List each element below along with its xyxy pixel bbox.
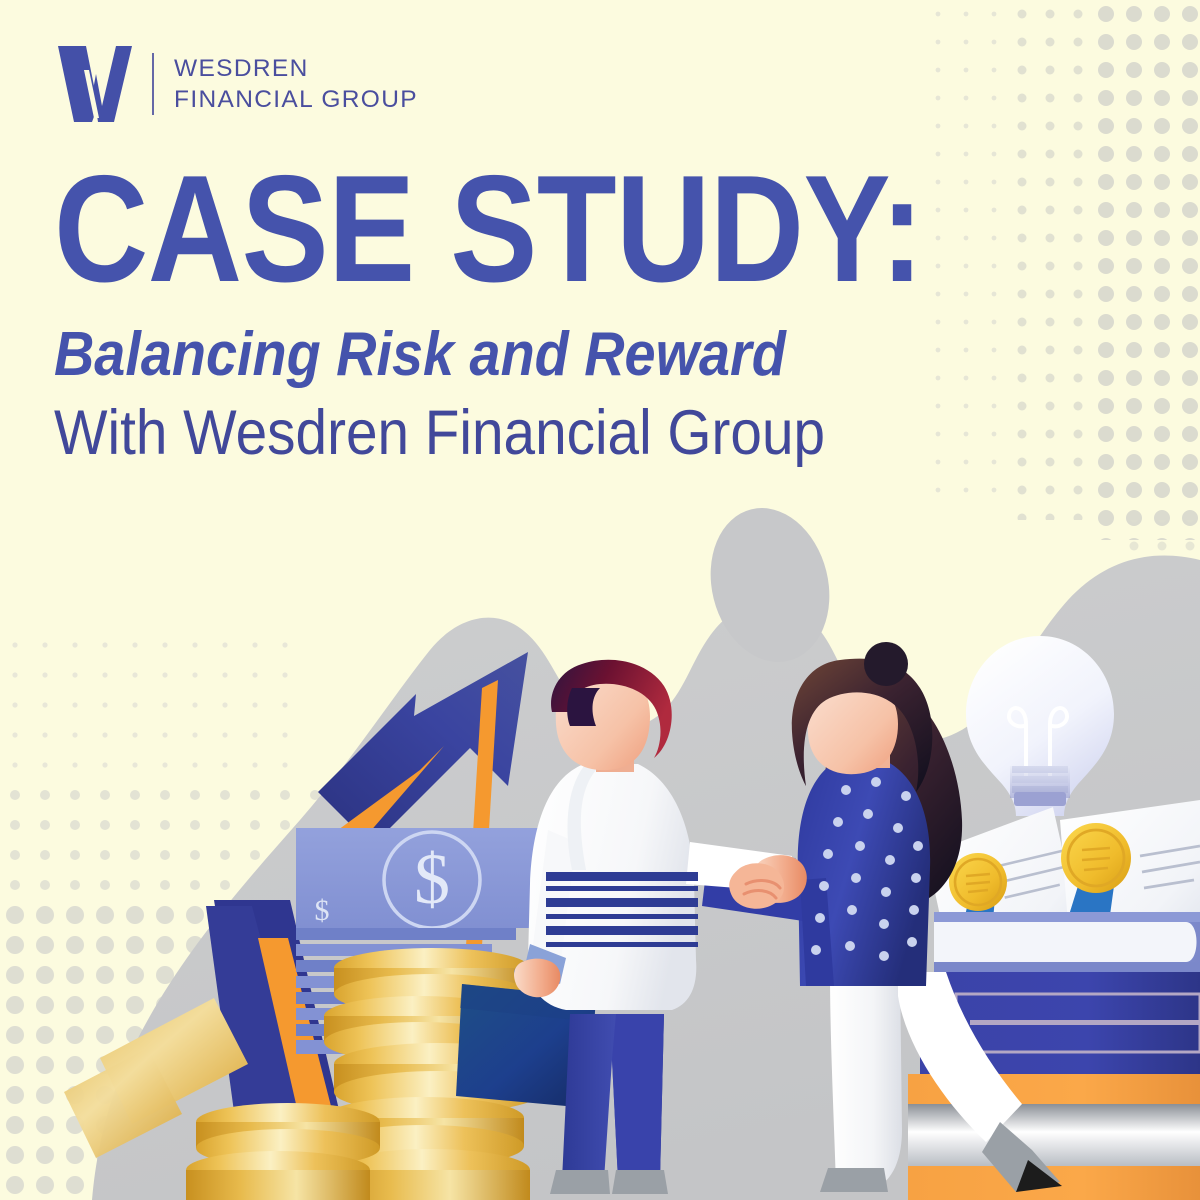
page-title: CASE STUDY: (54, 160, 914, 300)
banknote-dollar-symbol-small: $ (315, 894, 330, 927)
logo-line-1: WESDREN (174, 55, 418, 82)
subtitle-light: With Wesdren Financial Group (54, 402, 954, 465)
logo-divider (152, 53, 154, 115)
logo-wordmark: WESDREN FINANCIAL GROUP (174, 55, 418, 114)
subtitle-italic: Balancing Risk and Reward (54, 324, 954, 386)
coin-stack-small (186, 1103, 380, 1200)
wesdren-w-mark-icon (56, 44, 134, 124)
logo-line-2: FINANCIAL GROUP (174, 86, 418, 113)
banknote-dollar-symbol: $ (414, 839, 450, 919)
poster-canvas: $ $ (0, 0, 1200, 1200)
brand-logo[interactable]: WESDREN FINANCIAL GROUP (56, 44, 418, 124)
headline-block: CASE STUDY: Balancing Risk and Reward Wi… (54, 160, 1054, 465)
